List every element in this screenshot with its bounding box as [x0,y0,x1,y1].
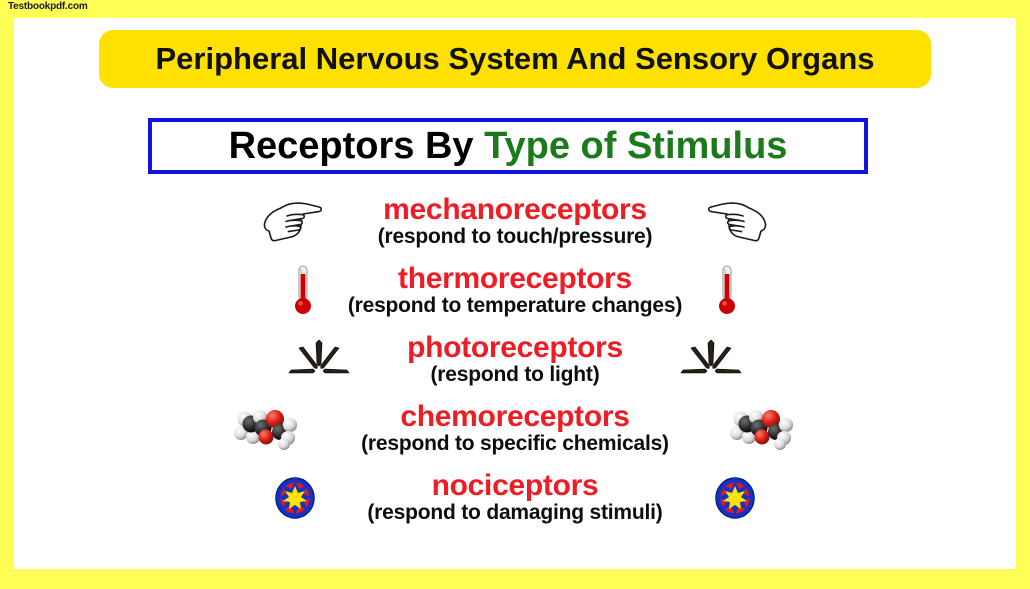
pointing-hand-icon [254,192,328,250]
receptor-description: (respond to damaging stimuli) [367,502,662,523]
receptor-description: (respond to temperature changes) [348,295,682,316]
molecule-icon [726,399,800,457]
receptor-name: nociceptors [432,471,599,501]
infographic-page: Testbookpdf.com Peripheral Nervous Syste… [0,0,1030,589]
receptor-description: (respond to specific chemicals) [361,433,669,454]
list-item: chemoreceptors (respond to specific chem… [14,393,1016,462]
molecule-icon [230,399,304,457]
receptor-name: chemoreceptors [400,402,629,432]
light-rays-icon [282,330,356,388]
receptor-text-block: mechanoreceptors (respond to touch/press… [378,195,653,247]
watermark-label: Testbookpdf.com [8,1,88,12]
light-rays-icon [674,330,748,388]
receptor-list: mechanoreceptors (respond to touch/press… [14,186,1016,531]
list-item: nociceptors (respond to damaging stimuli… [14,462,1016,531]
page-title: Peripheral Nervous System And Sensory Or… [156,41,875,77]
thermometer-icon [266,261,340,319]
pain-burst-icon [258,468,332,526]
receptor-name: photoreceptors [407,333,623,363]
receptor-text-block: nociceptors (respond to damaging stimuli… [367,471,662,523]
content-canvas: Peripheral Nervous System And Sensory Or… [14,18,1016,569]
thermometer-icon [690,261,764,319]
page-title-banner: Peripheral Nervous System And Sensory Or… [99,30,931,88]
pain-burst-icon [698,468,772,526]
list-item: thermoreceptors (respond to temperature … [14,255,1016,324]
receptor-description: (respond to touch/pressure) [378,226,653,247]
receptor-text-block: photoreceptors (respond to light) [407,333,623,385]
subtitle-highlight: Type of Stimulus [484,125,787,167]
receptor-name: mechanoreceptors [383,195,647,225]
receptor-description: (respond to light) [430,364,599,385]
subtitle-line: Receptors By Type of Stimulus [229,127,788,165]
receptor-name: thermoreceptors [398,264,632,294]
list-item: photoreceptors (respond to light) [14,324,1016,393]
receptor-text-block: thermoreceptors (respond to temperature … [348,264,682,316]
pointing-hand-icon [702,192,776,250]
subtitle-box: Receptors By Type of Stimulus [148,118,868,174]
receptor-text-block: chemoreceptors (respond to specific chem… [361,402,669,454]
subtitle-prefix: Receptors By [229,125,474,167]
list-item: mechanoreceptors (respond to touch/press… [14,186,1016,255]
